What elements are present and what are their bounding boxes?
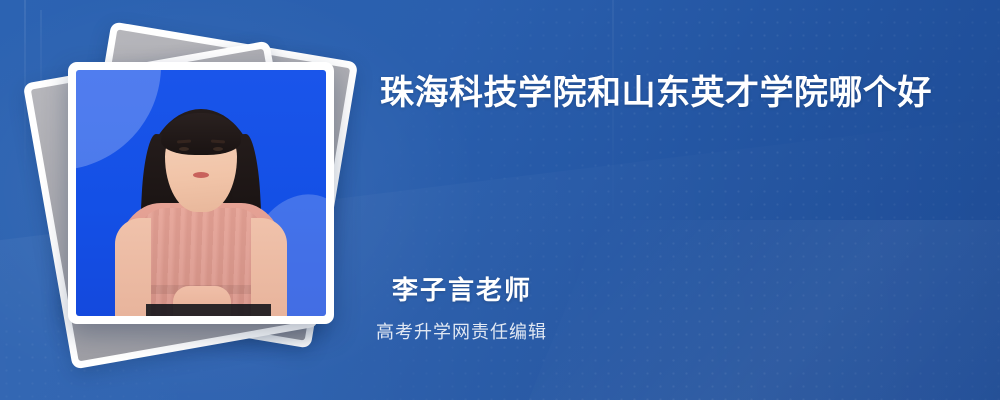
author-name: 李子言老师	[376, 270, 956, 307]
portrait-figure	[76, 70, 326, 316]
cover-text-content: 珠海科技学院和山东英才学院哪个好 李子言老师 高考升学网责任编辑	[376, 0, 966, 400]
portrait-shoulder-right	[251, 218, 287, 316]
author-byline: 李子言老师 高考升学网责任编辑	[376, 270, 956, 344]
portrait-shoulder-left	[115, 218, 151, 316]
photo-bottom-strip	[146, 304, 271, 316]
portrait-photo	[76, 70, 326, 316]
article-cover-banner: 珠海科技学院和山东英才学院哪个好 李子言老师 高考升学网责任编辑	[0, 0, 1000, 400]
author-role: 高考升学网责任编辑	[376, 318, 956, 344]
page-title: 珠海科技学院和山东英才学院哪个好	[380, 68, 960, 120]
photo-card-front	[68, 62, 334, 324]
photo-card-stack	[52, 36, 352, 356]
